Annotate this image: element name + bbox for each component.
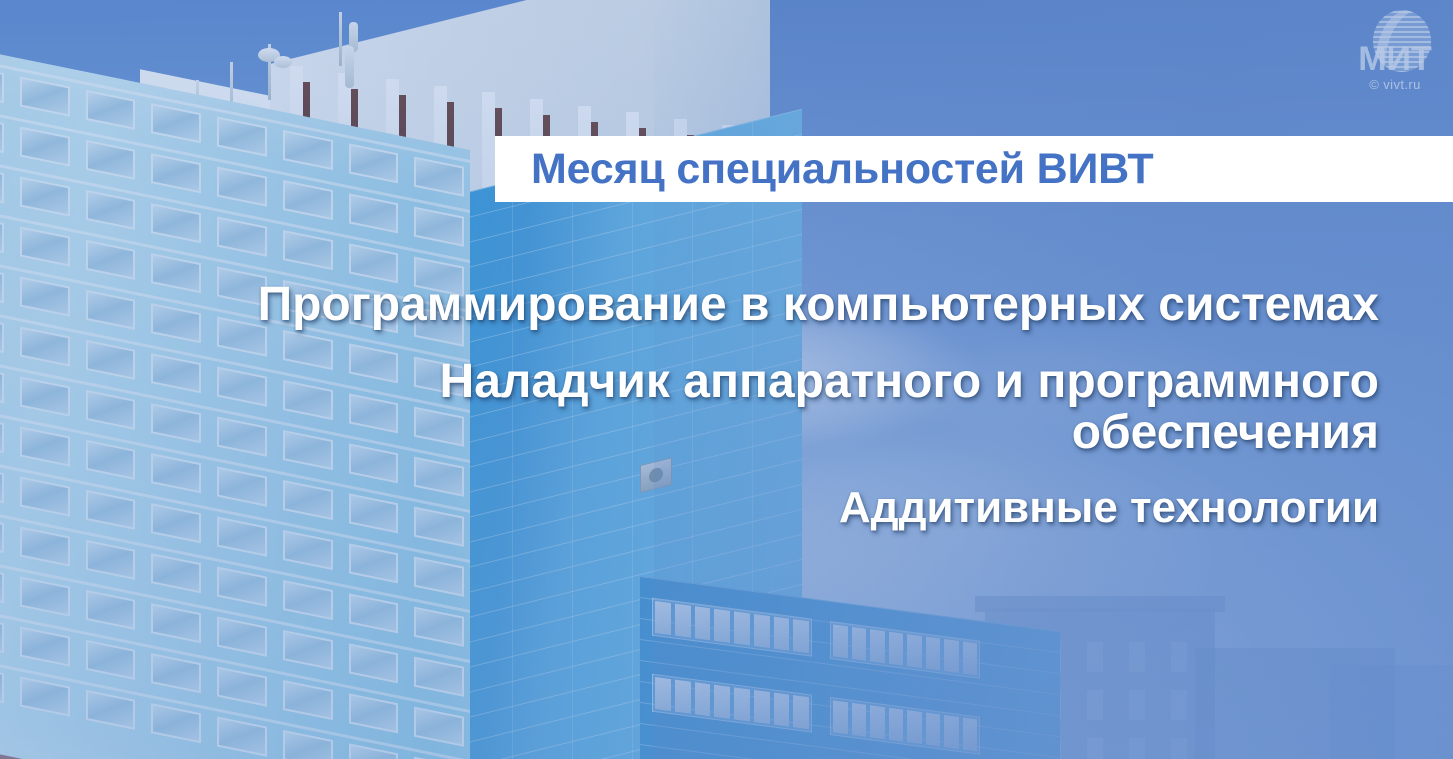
program-item-3: Аддитивные технологии (180, 485, 1379, 532)
poster-canvas: Месяц специальностей ВИВТ Программирован… (0, 0, 1453, 759)
program-list: Программирование в компьютерных системах… (180, 280, 1379, 531)
watermark: МИТ © vivt.ru (1345, 4, 1445, 104)
page-title: Месяц специальностей ВИВТ (531, 148, 1153, 191)
watermark-caption: © vivt.ru (1345, 77, 1445, 92)
svg-text:МИТ: МИТ (1358, 40, 1432, 78)
title-band: Месяц специальностей ВИВТ (495, 136, 1453, 202)
program-item-2: Наладчик аппаратного и программного обес… (180, 357, 1379, 459)
program-item-1: Программирование в компьютерных системах (180, 280, 1379, 331)
distant-building (1330, 665, 1453, 759)
